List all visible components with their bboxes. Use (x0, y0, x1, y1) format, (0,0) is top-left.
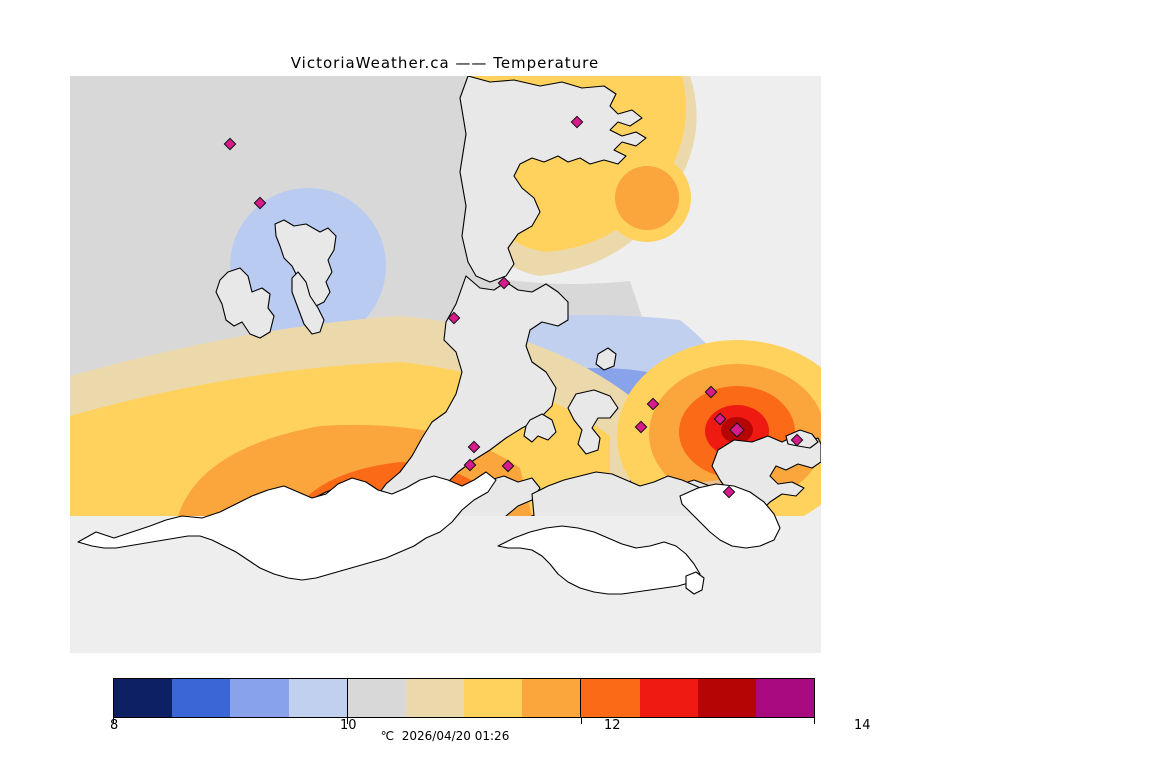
colorbar-segment-13.0-13.5 (698, 679, 756, 717)
colorbar-tick-14 (814, 718, 815, 724)
map-panel[interactable] (70, 76, 821, 653)
colorbar-segment-12.0-12.5 (580, 679, 639, 717)
colorbar-segment-11.5-12.0 (522, 679, 580, 717)
contour-map[interactable] (70, 76, 821, 653)
page-title: VictoriaWeather.ca —— Temperature (0, 54, 890, 72)
colorbar-segment-9.5-10.0 (289, 679, 347, 717)
island-lower-key (686, 572, 704, 594)
colorbar-segment-10.0-10.5 (347, 679, 406, 717)
colorbar-segment-12.5-13.0 (640, 679, 698, 717)
colorbar-gradient[interactable] (113, 678, 815, 718)
colorbar[interactable] (113, 678, 815, 718)
colorbar-segment-8.0-8.5 (114, 679, 172, 717)
colorbar-tick-12 (581, 718, 582, 724)
colorbar-segment-11.0-11.5 (464, 679, 522, 717)
colorbar-caption: ℃ 2026/04/20 01:26 (0, 729, 890, 743)
weather-map-page: VictoriaWeather.ca —— Temperature (0, 0, 1152, 768)
colorbar-segment-10.5-11.0 (406, 679, 464, 717)
colorbar-segment-8.5-9.0 (172, 679, 230, 717)
colorbar-segment-13.5-14.0 (756, 679, 814, 717)
colorbar-segment-9.0-9.5 (230, 679, 288, 717)
